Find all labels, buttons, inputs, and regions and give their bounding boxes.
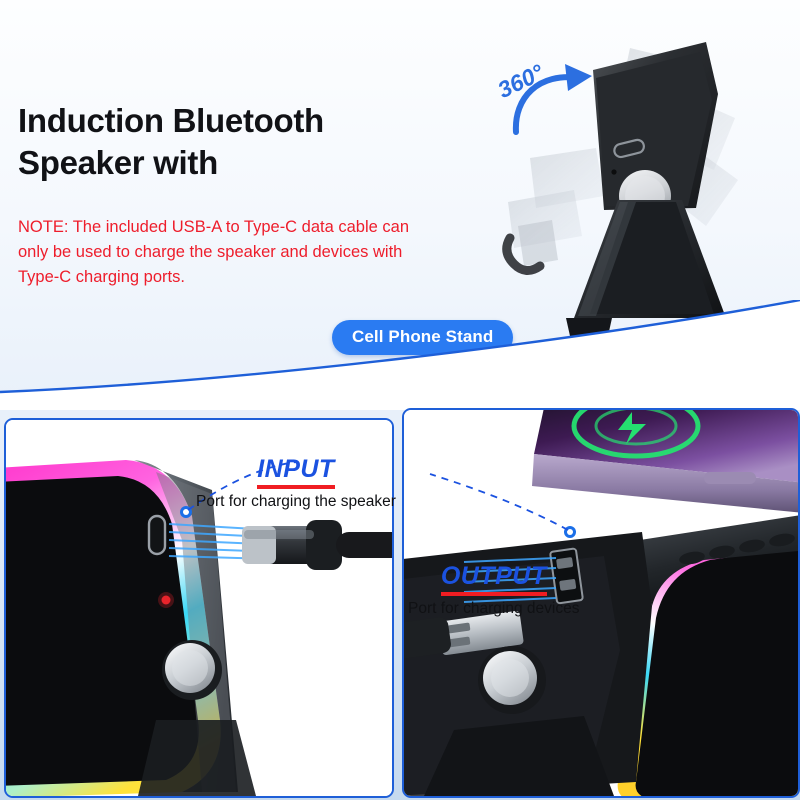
- output-keyword: OUTPUT: [441, 562, 547, 596]
- note-text: NOTE: The included USB-A to Type-C data …: [18, 215, 438, 291]
- output-callout: OUTPUT Port for charging devices: [408, 562, 579, 618]
- header-section: Induction Bluetooth Speaker with NOTE: T…: [0, 0, 800, 400]
- output-subtitle: Port for charging devices: [408, 600, 579, 618]
- page-title: Induction Bluetooth Speaker with: [18, 100, 448, 184]
- curved-divider: [0, 300, 800, 410]
- input-subtitle: Port for charging the speaker: [196, 493, 396, 511]
- product-infographic: Induction Bluetooth Speaker with NOTE: T…: [0, 0, 800, 800]
- input-keyword: INPUT: [257, 455, 335, 489]
- input-callout: INPUT Port for charging the speaker: [196, 455, 396, 511]
